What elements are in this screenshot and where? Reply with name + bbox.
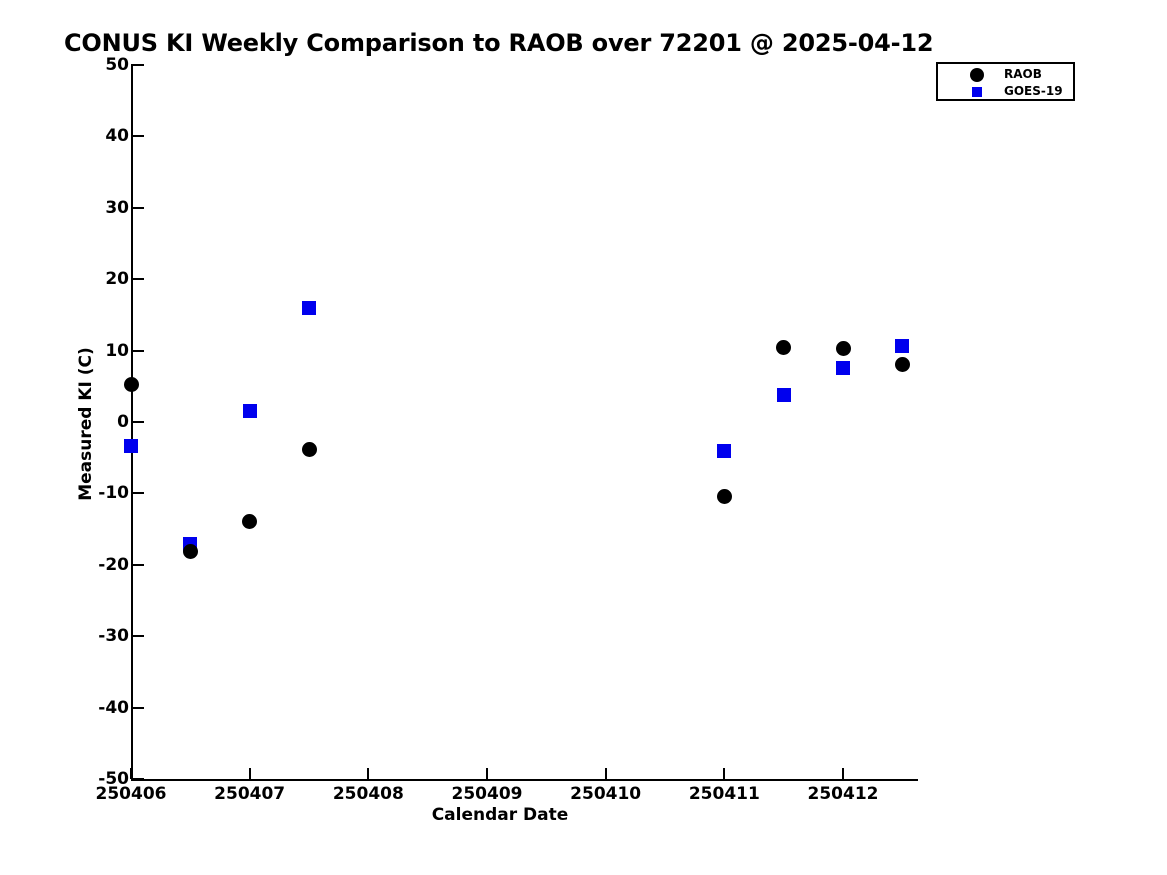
legend-square-icon: [966, 83, 988, 101]
y-tick-label: 30: [49, 198, 129, 218]
data-point-goes-19: [124, 439, 138, 453]
data-point-raob: [242, 514, 257, 529]
data-point-goes-19: [302, 301, 316, 315]
y-tick-label: -20: [49, 555, 129, 575]
data-point-raob: [717, 489, 732, 504]
y-tick: [133, 492, 144, 494]
data-point-raob: [302, 442, 317, 457]
x-tick: [605, 768, 607, 779]
plot-area: 50403020100-10-20-30-40-50 2504062504072…: [0, 0, 1167, 875]
legend: RAOB GOES-19: [936, 62, 1075, 101]
y-tick: [133, 635, 144, 637]
x-axis-title: Calendar Date: [0, 805, 1000, 825]
y-tick-label: -40: [49, 698, 129, 718]
chart-page: CONUS KI Weekly Comparison to RAOB over …: [0, 0, 1167, 875]
y-tick: [133, 707, 144, 709]
y-tick: [133, 778, 144, 780]
data-point-goes-19: [836, 361, 850, 375]
y-tick: [133, 421, 144, 423]
legend-row-raob: RAOB: [938, 66, 1073, 84]
x-tick: [367, 768, 369, 779]
legend-label-goes19: GOES-19: [1004, 84, 1063, 98]
x-tick: [249, 768, 251, 779]
data-point-goes-19: [895, 339, 909, 353]
data-point-goes-19: [777, 388, 791, 402]
data-point-raob: [836, 341, 851, 356]
y-tick: [133, 350, 144, 352]
data-point-goes-19: [243, 404, 257, 418]
x-tick: [130, 768, 132, 779]
y-tick-label: -30: [49, 626, 129, 646]
y-axis-title: Measured KI (C): [76, 324, 96, 524]
x-tick-label: 250412: [773, 784, 913, 804]
y-tick: [133, 278, 144, 280]
data-point-raob: [124, 377, 139, 392]
x-axis-line: [131, 779, 918, 781]
y-tick-label: 20: [49, 269, 129, 289]
y-tick-label: 50: [49, 55, 129, 75]
y-tick: [133, 207, 144, 209]
legend-circle-icon: [966, 66, 988, 84]
data-point-raob: [895, 357, 910, 372]
data-point-goes-19: [717, 444, 731, 458]
data-point-raob: [183, 544, 198, 559]
y-tick-label: 40: [49, 126, 129, 146]
x-tick: [723, 768, 725, 779]
y-tick: [133, 64, 144, 66]
x-tick: [486, 768, 488, 779]
y-tick: [133, 135, 144, 137]
legend-row-goes19: GOES-19: [938, 83, 1073, 101]
x-tick: [842, 768, 844, 779]
legend-label-raob: RAOB: [1004, 67, 1042, 81]
y-tick: [133, 564, 144, 566]
data-point-raob: [776, 340, 791, 355]
